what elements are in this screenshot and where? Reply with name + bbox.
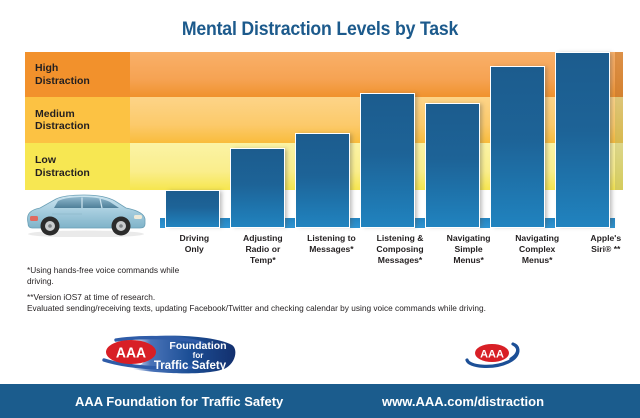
x-axis-label-5: NavigatingSimpleMenus* bbox=[434, 233, 503, 266]
x-axis-label-line: Temp* bbox=[230, 255, 297, 266]
x-axis-label-4: Listening &ComposingMessages* bbox=[366, 233, 435, 266]
bar-cell bbox=[420, 52, 485, 228]
x-axis-label-line: Simple bbox=[435, 244, 502, 255]
band-high-label-line1: High bbox=[35, 62, 130, 74]
x-axis-label-line: Adjusting bbox=[230, 233, 297, 244]
x-axis-label-line: Listening & bbox=[367, 233, 434, 244]
aaa-foundation-logo: AAA Foundation for Traffic Safety bbox=[98, 334, 238, 374]
x-axis-label-2: AdjustingRadio orTemp* bbox=[229, 233, 298, 266]
bar-cell bbox=[160, 52, 225, 228]
x-axis-label-1: DrivingOnly bbox=[160, 233, 229, 266]
x-axis-label-6: NavigatingComplexMenus* bbox=[503, 233, 572, 266]
band-medium-label: Medium Distraction bbox=[25, 97, 130, 143]
bar-cell bbox=[550, 52, 615, 228]
foundation-line3: Traffic Safety bbox=[154, 360, 227, 372]
bar-cell bbox=[485, 52, 550, 228]
band-low-edge bbox=[615, 143, 623, 190]
band-high-label: High Distraction bbox=[25, 52, 130, 97]
svg-text:AAA: AAA bbox=[480, 349, 504, 361]
band-high-edge bbox=[615, 52, 623, 97]
x-axis-label-7: Apple'sSiri® ** bbox=[571, 233, 640, 266]
chart-x-axis-labels: DrivingOnlyAdjustingRadio orTemp*Listeni… bbox=[160, 233, 640, 266]
x-axis-label-line: Only bbox=[161, 244, 228, 255]
bar-series bbox=[160, 52, 615, 228]
bar-cell bbox=[355, 52, 420, 228]
bar-3 bbox=[295, 133, 351, 228]
footnote-siri: **Version iOS7 at time of research. Eval… bbox=[27, 292, 607, 314]
band-medium-label-line2: Distraction bbox=[35, 120, 130, 132]
bar-6 bbox=[490, 66, 546, 228]
infographic-root: Mental Distraction Levels by Task High D… bbox=[0, 0, 640, 418]
band-medium-label-line1: Medium bbox=[35, 108, 130, 120]
footer-organization: AAA Foundation for Traffic Safety bbox=[75, 394, 283, 409]
band-low-label-line2: Distraction bbox=[35, 167, 130, 179]
page-title: Mental Distraction Levels by Task bbox=[22, 19, 617, 41]
band-low-label-line1: Low bbox=[35, 154, 130, 166]
bar-2 bbox=[230, 148, 286, 228]
x-axis-label-line: Driving bbox=[161, 233, 228, 244]
car-illustration bbox=[22, 190, 150, 237]
svg-text:AAA: AAA bbox=[116, 345, 147, 362]
x-axis-label-line: Siri® ** bbox=[572, 244, 639, 255]
footnote-hands-free: *Using hands-free voice commands while d… bbox=[27, 265, 197, 287]
x-axis-label-line: Navigating bbox=[435, 233, 502, 244]
x-axis-label-line: Messages* bbox=[298, 244, 365, 255]
footer-website[interactable]: www.AAA.com/distraction bbox=[382, 394, 544, 409]
chart-plot-area bbox=[160, 52, 615, 228]
x-axis-label-line: Complex bbox=[504, 244, 571, 255]
bar-4 bbox=[360, 93, 416, 228]
x-axis-label-line: Menus* bbox=[504, 255, 571, 266]
x-axis-label-line: Listening to bbox=[298, 233, 365, 244]
x-axis-label-line: Apple's bbox=[572, 233, 639, 244]
distraction-chart: High Distraction Medium Distraction Low … bbox=[25, 52, 615, 190]
band-low-label: Low Distraction bbox=[25, 143, 130, 190]
bar-1 bbox=[165, 190, 221, 228]
x-axis-label-line: Navigating bbox=[504, 233, 571, 244]
x-axis-label-line: Radio or bbox=[230, 244, 297, 255]
x-axis-label-line: Composing bbox=[367, 244, 434, 255]
x-axis-label-line: Messages* bbox=[367, 255, 434, 266]
bar-5 bbox=[425, 103, 481, 228]
band-high-label-line2: Distraction bbox=[35, 75, 130, 87]
band-medium-edge bbox=[615, 97, 623, 143]
bar-7 bbox=[555, 52, 611, 228]
x-axis-label-line: Menus* bbox=[435, 255, 502, 266]
foundation-line2: for bbox=[193, 351, 204, 360]
bar-cell bbox=[290, 52, 355, 228]
x-axis-label-3: Listening toMessages* bbox=[297, 233, 366, 266]
bar-cell bbox=[225, 52, 290, 228]
footer-bar: AAA Foundation for Traffic Safety www.AA… bbox=[0, 384, 640, 418]
aaa-logo: AAA bbox=[463, 340, 523, 368]
